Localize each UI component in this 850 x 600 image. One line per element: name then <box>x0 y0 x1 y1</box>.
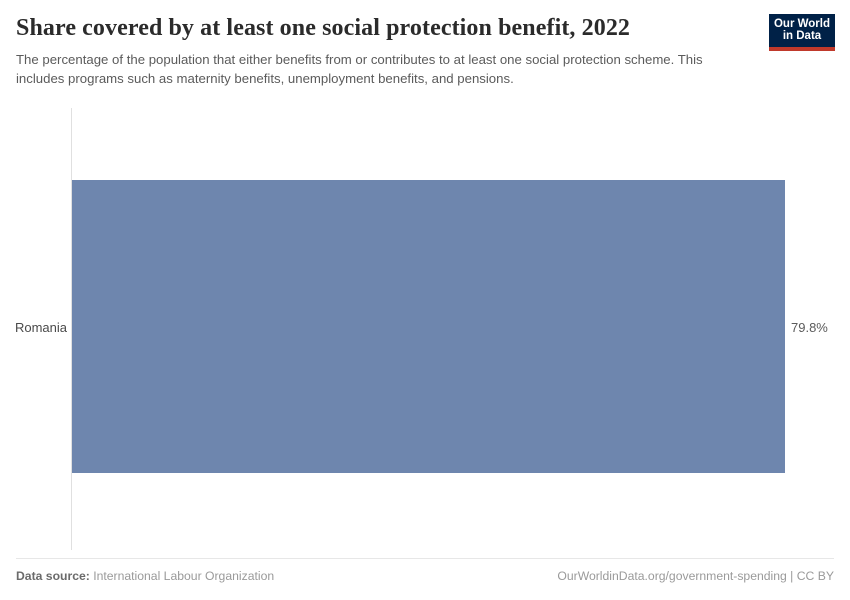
logo-line-one: Our World <box>774 18 830 31</box>
page-title: Share covered by at least one social pro… <box>16 14 746 42</box>
chart-subtitle: The percentage of the population that ei… <box>16 50 716 88</box>
logo-line-two: in Data <box>783 30 821 43</box>
bar-value-label-romania: 79.8% <box>791 320 828 336</box>
footer-divider <box>16 558 834 559</box>
our-world-in-data-logo[interactable]: Our World in Data <box>769 14 835 51</box>
data-source-label: Data source: <box>16 569 90 583</box>
data-source-value: International Labour Organization <box>93 569 274 583</box>
bar-romania[interactable] <box>72 180 785 473</box>
attribution-link[interactable]: OurWorldinData.org/government-spending |… <box>557 568 834 584</box>
data-source-note: Data source: International Labour Organi… <box>16 568 274 584</box>
chart-canvas: Share covered by at least one social pro… <box>0 0 850 600</box>
bar-category-label-romania: Romania <box>0 320 67 336</box>
